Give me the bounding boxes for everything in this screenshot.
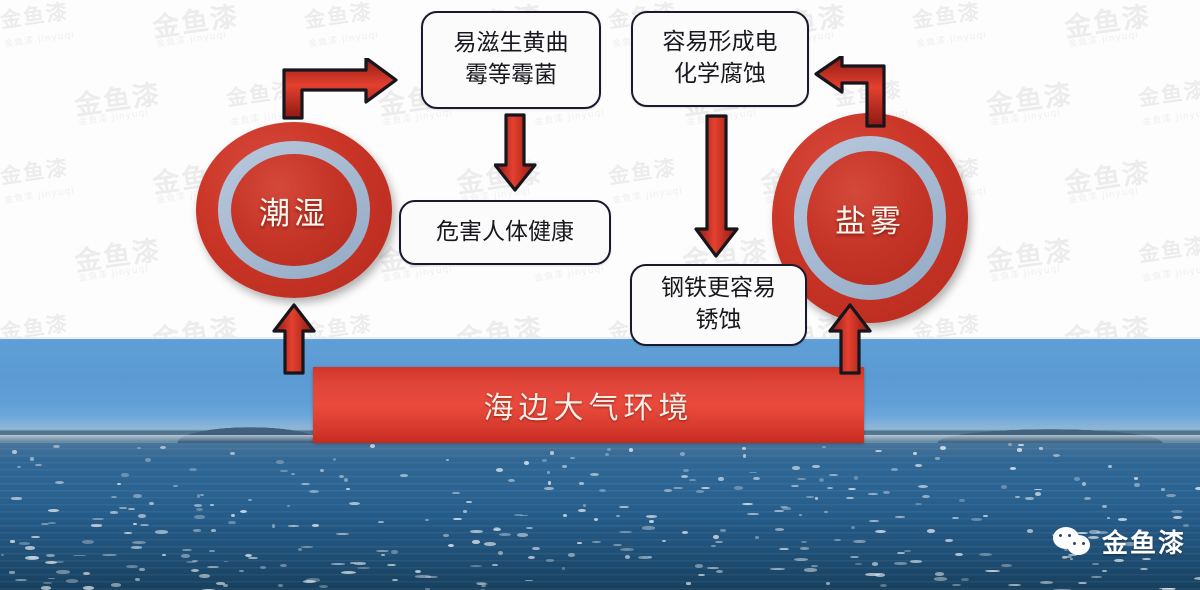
watermark-subtext: 金鱼漆 jinyuqi <box>915 27 987 50</box>
whitecap <box>207 566 219 569</box>
whitecap <box>138 514 146 518</box>
whitecap <box>698 574 705 576</box>
whitecap <box>470 565 482 567</box>
whitecap <box>797 478 806 480</box>
whitecap <box>846 497 854 500</box>
whitecap <box>1166 494 1175 497</box>
whitecap <box>131 546 142 548</box>
whitecap <box>248 557 258 559</box>
whitecap <box>577 542 583 544</box>
whitecap <box>376 550 389 552</box>
whitecap <box>223 584 228 587</box>
effect-box-corrosion-line1: 容易形成电 <box>657 27 784 59</box>
effect-box-rust-line1: 钢铁更容易 <box>655 273 782 305</box>
whitecap <box>1001 485 1007 488</box>
whitecap <box>492 564 497 566</box>
effect-box-mold-line2: 霉等霉菌 <box>448 60 575 92</box>
effect-box-rust-line2: 锈蚀 <box>655 305 782 337</box>
node-humidity-label: 潮湿 <box>259 188 329 233</box>
whitecap <box>1161 488 1165 491</box>
whitecap <box>868 493 878 495</box>
watermark-subtext: 金鱼漆 jinyuqi <box>989 105 1061 128</box>
whitecap <box>707 567 719 569</box>
whitecap <box>56 570 70 574</box>
whitecap <box>792 466 800 470</box>
whitecap <box>875 530 886 533</box>
whitecap <box>19 542 29 544</box>
watermark-subtext: 金鱼漆 jinyuqi <box>611 183 683 206</box>
whitecap <box>716 570 723 573</box>
whitecap <box>605 453 609 456</box>
whitecap <box>194 515 205 519</box>
whitecap <box>934 577 948 580</box>
whitecap <box>1078 582 1087 584</box>
whitecap <box>915 503 922 505</box>
whitecap <box>41 586 51 589</box>
whitecap <box>985 570 1000 572</box>
whitecap <box>446 459 449 461</box>
whitecap <box>278 584 282 587</box>
whitecap <box>196 508 202 511</box>
whitecap <box>477 583 488 585</box>
effect-box-rust[interactable]: 钢铁更容易 锈蚀 <box>630 264 807 346</box>
watermark-subtext: 金鱼漆 jinyuqi <box>307 27 379 50</box>
whitecap <box>463 510 468 513</box>
whitecap <box>872 562 879 566</box>
arrow-mold-to-health <box>494 113 538 193</box>
whitecap <box>291 473 295 475</box>
whitecap <box>979 553 992 556</box>
whitecap <box>620 548 633 551</box>
whitecap <box>1092 563 1099 566</box>
watermark-subtext: 金鱼漆 jinyuqi <box>3 27 75 50</box>
whitecap <box>280 564 287 567</box>
watermark-subtext: 金鱼漆 jinyuqi <box>3 183 75 206</box>
whitecap <box>883 491 890 495</box>
whitecap <box>309 490 319 493</box>
whitecap <box>320 469 324 472</box>
effect-box-rust-text: 钢铁更容易 锈蚀 <box>649 273 788 336</box>
whitecap <box>1034 489 1042 491</box>
whitecap <box>31 536 40 539</box>
whitecap <box>701 487 710 490</box>
whitecap <box>443 534 449 537</box>
whitecap <box>448 544 454 547</box>
whitecap <box>568 553 575 556</box>
whitecap <box>1 554 4 556</box>
whitecap <box>30 457 35 461</box>
whitecap <box>132 541 146 544</box>
watermark-text: 金鱼漆 <box>0 151 71 190</box>
watermark-text: 金鱼漆 <box>72 72 164 123</box>
whitecap <box>387 564 396 566</box>
whitecap <box>940 446 947 450</box>
whitecap <box>470 530 483 533</box>
whitecap <box>66 579 79 582</box>
watermark-text: 金鱼漆 <box>1062 0 1154 45</box>
whitecap <box>532 547 540 551</box>
whitecap <box>579 482 584 485</box>
brand-logo: 金鱼漆 <box>1053 523 1186 560</box>
whitecap <box>851 526 855 529</box>
whitecap <box>498 551 503 554</box>
whitecap <box>73 555 86 557</box>
whitecap <box>696 490 704 493</box>
whitecap <box>1108 465 1112 469</box>
whitecap <box>303 580 316 583</box>
whitecap <box>276 460 284 464</box>
whitecap <box>718 477 723 481</box>
whitecap <box>804 568 816 571</box>
whitecap <box>83 586 94 590</box>
whitecap <box>10 540 16 543</box>
whitecap <box>1195 487 1200 491</box>
whitecap <box>682 531 688 534</box>
whitecap <box>779 548 789 550</box>
whitecap <box>91 524 103 526</box>
whitecap <box>649 520 655 524</box>
whitecap <box>526 527 533 529</box>
whitecap <box>453 518 462 521</box>
whitecap <box>12 450 16 454</box>
whitecap <box>578 509 586 512</box>
whitecap <box>46 554 55 557</box>
whitecap <box>228 521 236 524</box>
whitecap <box>583 504 586 507</box>
effect-box-health-text: 危害人体健康 <box>424 217 586 249</box>
whitecap <box>43 582 53 584</box>
whitecap <box>1173 516 1182 520</box>
watermark-text: 金鱼漆 <box>0 0 71 35</box>
whitecap <box>664 489 672 492</box>
whitecap <box>508 479 515 482</box>
whitecap <box>92 518 104 520</box>
whitecap <box>918 485 928 488</box>
whitecap <box>466 501 472 504</box>
whitecap <box>895 516 904 518</box>
whitecap <box>755 536 758 539</box>
whitecap <box>875 573 885 577</box>
whitecap <box>199 574 210 578</box>
whitecap <box>983 515 988 518</box>
whitecap <box>149 502 154 505</box>
watermark-text: 金鱼漆 <box>984 72 1076 123</box>
watermark-text: 金鱼漆 <box>302 0 375 35</box>
whitecap <box>344 478 348 481</box>
whitecap <box>1017 448 1023 451</box>
whitecap <box>135 578 140 581</box>
whitecap <box>806 496 814 498</box>
whitecap <box>298 548 302 551</box>
watermark-subtext: 金鱼漆 jinyuqi <box>1067 183 1139 206</box>
whitecap <box>775 528 784 530</box>
whitecap <box>260 566 266 569</box>
whitecap <box>173 485 178 487</box>
whitecap <box>525 580 534 582</box>
whitecap <box>15 579 28 582</box>
whitecap <box>121 473 129 477</box>
whitecap <box>594 518 598 521</box>
whitecap <box>1053 454 1060 457</box>
whitecap <box>346 488 350 490</box>
whitecap <box>48 509 59 512</box>
whitecap <box>713 535 719 539</box>
whitecap <box>646 515 657 518</box>
whitecap <box>607 448 611 451</box>
whitecap <box>546 559 554 562</box>
whitecap <box>971 518 982 521</box>
watermark-text: 金鱼漆 <box>1136 73 1200 112</box>
whitecap <box>799 514 802 516</box>
whitecap <box>711 545 716 547</box>
whitecap <box>662 540 666 542</box>
whitecap <box>191 569 199 572</box>
whitecap <box>753 477 759 480</box>
whitecap <box>829 474 838 476</box>
whitecap <box>155 530 168 533</box>
whitecap <box>904 550 910 552</box>
watermark-subtext: 金鱼漆 jinyuqi <box>155 27 227 50</box>
whitecap <box>224 561 228 563</box>
effect-box-mold[interactable]: 易滋生黄曲 霉等霉菌 <box>421 11 601 109</box>
effect-box-mold-text: 易滋生黄曲 霉等霉菌 <box>442 28 581 91</box>
effect-box-mold-line1: 易滋生黄曲 <box>448 28 575 60</box>
watermark-subtext: 金鱼漆 jinyuqi <box>1141 261 1200 284</box>
wechat-icon <box>1053 527 1093 557</box>
whitecap <box>111 496 118 498</box>
whitecap <box>354 562 366 564</box>
whitecap <box>391 550 398 554</box>
whitecap <box>499 533 511 536</box>
whitecap <box>801 541 807 543</box>
whitecap <box>230 452 235 455</box>
whitecap <box>110 511 119 513</box>
whitecap <box>1025 497 1033 500</box>
watermark-subtext: 金鱼漆 jinyuqi <box>77 105 149 128</box>
whitecap <box>528 556 535 559</box>
whitecap <box>742 447 747 450</box>
whitecap <box>231 514 235 518</box>
whitecap <box>1074 477 1080 481</box>
whitecap <box>542 459 547 462</box>
whitecap <box>945 539 953 542</box>
whitecap <box>1084 497 1091 500</box>
whitecap <box>891 468 898 471</box>
whitecap <box>357 567 370 569</box>
whitecap <box>935 457 940 460</box>
whitecap <box>1107 517 1111 519</box>
environment-banner: 海边大气环境 <box>313 367 864 443</box>
whitecap <box>681 475 689 478</box>
whitecap <box>392 579 398 581</box>
whitecap <box>248 499 252 501</box>
whitecap <box>25 546 35 550</box>
node-humidity[interactable]: 潮湿 <box>196 122 392 298</box>
whitecap <box>139 568 145 572</box>
watermark-text: 金鱼漆 <box>910 0 983 35</box>
whitecap <box>613 544 621 546</box>
whitecap <box>774 510 784 513</box>
whitecap <box>689 479 696 481</box>
whitecap <box>955 553 963 557</box>
whitecap <box>749 472 756 474</box>
whitecap <box>915 464 923 467</box>
whitecap <box>747 513 759 515</box>
whitecap <box>619 531 632 533</box>
whitecap <box>133 523 136 525</box>
effect-box-health-line1: 危害人体健康 <box>430 217 580 249</box>
whitecap <box>1010 467 1016 470</box>
effect-box-corrosion[interactable]: 容易形成电 化学腐蚀 <box>631 11 809 107</box>
whitecap <box>1102 505 1107 508</box>
whitecap <box>186 561 196 563</box>
whitecap <box>333 458 336 462</box>
whitecap <box>452 492 460 495</box>
whitecap <box>160 446 166 449</box>
whitecap <box>496 468 503 472</box>
whitecap <box>562 567 565 570</box>
whitecap <box>683 469 689 472</box>
whitecap <box>133 494 142 498</box>
whitecap <box>162 554 166 556</box>
whitecap <box>1027 529 1033 532</box>
whitecap <box>550 451 554 455</box>
whitecap <box>239 570 245 572</box>
whitecap <box>625 555 630 559</box>
whitecap <box>544 487 553 490</box>
whitecap <box>181 554 190 558</box>
whitecap <box>197 494 200 497</box>
whitecap <box>922 495 930 498</box>
whitecap <box>686 582 692 584</box>
whitecap <box>520 515 528 517</box>
whitecap <box>137 447 141 449</box>
whitecap <box>742 503 753 505</box>
arrow-banner-to-humidity <box>272 303 318 375</box>
whitecap <box>616 515 621 517</box>
photo-top-edge <box>0 337 1200 339</box>
whitecap <box>111 583 121 586</box>
whitecap <box>629 448 633 452</box>
whitecap <box>517 533 528 536</box>
whitecap <box>117 483 121 485</box>
whitecap <box>819 478 824 482</box>
whitecap <box>720 529 726 533</box>
whitecap <box>592 541 601 543</box>
whitecap <box>493 528 502 531</box>
whitecap <box>1018 444 1024 447</box>
whitecap <box>880 584 887 587</box>
whitecap <box>815 497 818 500</box>
watermark-subtext: 金鱼漆 jinyuqi <box>77 261 149 284</box>
whitecap <box>331 563 345 565</box>
whitecap <box>1134 483 1140 487</box>
whitecap <box>913 452 917 456</box>
arrow-humidity-to-mold <box>280 58 410 120</box>
whitecap <box>680 452 685 456</box>
whitecap <box>1140 568 1148 570</box>
whitecap <box>280 470 288 472</box>
whitecap <box>562 465 567 468</box>
whitecap <box>378 521 384 523</box>
whitecap <box>1008 584 1020 586</box>
whitecap <box>189 468 197 471</box>
arrow-banner-to-salt-fog <box>828 303 874 375</box>
whitecap <box>370 444 375 448</box>
whitecap <box>695 564 703 568</box>
whitecap <box>145 458 150 461</box>
effect-box-health[interactable]: 危害人体健康 <box>399 200 611 265</box>
whitecap <box>791 485 799 487</box>
whitecap <box>83 572 90 576</box>
whitecap <box>35 464 42 467</box>
whitecap <box>794 558 808 561</box>
watermark-text: 金鱼漆 <box>72 228 164 279</box>
whitecap <box>301 483 310 485</box>
whitecap <box>619 506 629 508</box>
whitecap <box>811 565 818 567</box>
whitecap <box>770 568 785 570</box>
whitecap <box>9 571 14 573</box>
whitecap <box>959 499 965 503</box>
whitecap <box>272 524 275 528</box>
whitecap <box>743 454 746 457</box>
whitecap <box>854 476 858 479</box>
whitecap <box>961 578 968 581</box>
whitecap <box>415 570 421 573</box>
watermark-subtext: 金鱼漆 jinyuqi <box>1067 27 1139 50</box>
whitecap <box>853 540 866 544</box>
whitecap <box>45 561 57 564</box>
whitecap <box>128 508 135 510</box>
whitecap <box>935 572 944 576</box>
whitecap <box>824 511 829 513</box>
whitecap <box>734 486 743 490</box>
whitecap <box>211 529 217 532</box>
watermark-text: 金鱼漆 <box>1136 229 1200 268</box>
whitecap <box>200 494 204 496</box>
whitecap <box>55 481 64 484</box>
whitecap <box>673 487 683 489</box>
whitecap <box>484 542 497 546</box>
whitecap <box>349 502 360 505</box>
whitecap <box>53 445 60 448</box>
whitecap <box>642 526 655 529</box>
whitecap <box>48 578 55 580</box>
whitecap <box>287 505 291 507</box>
whitecap <box>822 446 827 448</box>
whitecap <box>209 550 215 553</box>
whitecap <box>850 556 858 558</box>
whitecap <box>952 517 958 519</box>
whitecaps <box>0 441 1200 590</box>
whitecap <box>834 539 841 542</box>
whitecap <box>1001 564 1012 567</box>
watermark-text: 金鱼漆 <box>150 0 242 45</box>
whitecap <box>547 471 551 474</box>
whitecap <box>827 487 833 489</box>
whitecap <box>288 525 300 527</box>
whitecap <box>570 457 574 459</box>
effect-box-corrosion-line2: 化学腐蚀 <box>657 59 784 91</box>
whitecap <box>869 520 878 522</box>
whitecap <box>319 585 328 588</box>
whitecap <box>341 571 356 574</box>
whitecap <box>1091 576 1102 578</box>
whitecap <box>563 514 566 517</box>
whitecap <box>126 565 138 568</box>
brand-name: 金鱼漆 <box>1102 523 1186 560</box>
